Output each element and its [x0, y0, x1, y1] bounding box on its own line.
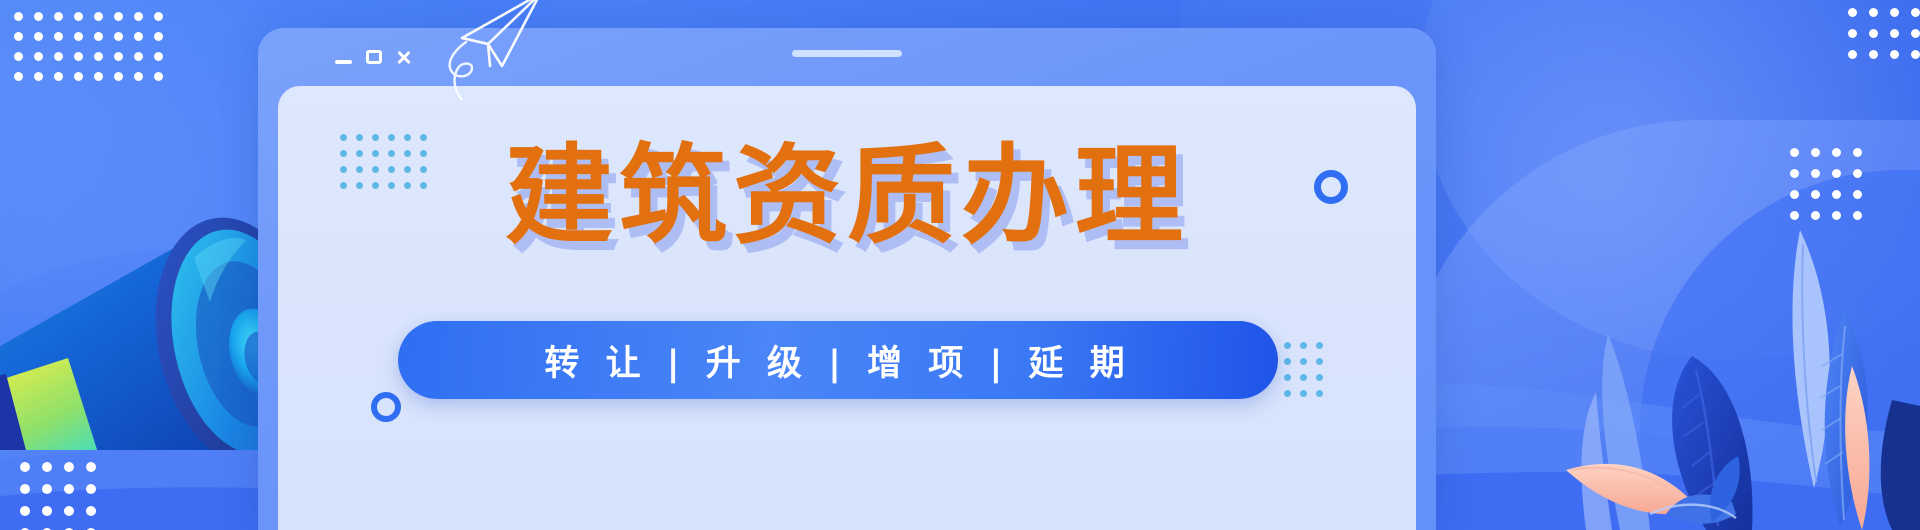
card-handle-bar	[792, 50, 902, 57]
decorative-dot	[42, 484, 52, 494]
decorative-dot	[94, 52, 103, 61]
dot-grid-card-right	[1284, 342, 1332, 406]
decorative-dot	[1869, 50, 1878, 59]
decorative-dot	[34, 32, 43, 41]
decorative-dot	[1869, 29, 1878, 38]
decorative-dot	[134, 72, 143, 81]
decorative-dot	[34, 12, 43, 21]
decorative-dot	[1890, 29, 1899, 38]
decorative-dot	[74, 52, 83, 61]
decorative-dot	[74, 12, 83, 21]
decorative-dot	[1316, 390, 1323, 397]
decorative-dot	[1911, 50, 1920, 59]
decorative-dot	[1284, 358, 1291, 365]
decorative-dot	[154, 12, 163, 21]
decorative-dot	[1284, 342, 1291, 349]
dot-grid-bottom-left	[20, 440, 108, 530]
decorative-dot	[1300, 374, 1307, 381]
title-container: 建筑资质办理	[258, 140, 1436, 253]
decorative-dot	[1300, 342, 1307, 349]
decorative-dot	[14, 32, 23, 41]
window-controls[interactable]	[335, 46, 411, 68]
minimize-icon[interactable]	[335, 60, 352, 64]
decorative-dot	[114, 12, 123, 21]
decorative-dot	[154, 32, 163, 41]
decorative-dot	[134, 52, 143, 61]
decorative-dot	[114, 72, 123, 81]
decorative-dot	[1790, 148, 1799, 157]
decorative-dot	[54, 52, 63, 61]
decorative-dot	[1811, 148, 1820, 157]
decorative-dot	[54, 12, 63, 21]
dot-grid-top-left	[14, 12, 174, 92]
page-title: 建筑资质办理	[505, 140, 1189, 253]
window-card: 建筑资质办理 转 让 | 升 级 | 增 项 | 延 期	[258, 28, 1436, 530]
decorative-dot	[20, 506, 30, 516]
decorative-dot	[86, 484, 96, 494]
decorative-dot	[114, 32, 123, 41]
close-icon[interactable]	[396, 50, 411, 65]
decorative-dot	[1890, 50, 1899, 59]
decorative-dot	[64, 506, 74, 516]
subtitle-label: 转 让 | 升 级 | 增 项 | 延 期	[544, 335, 1131, 386]
decorative-dot	[54, 32, 63, 41]
decorative-dot	[154, 52, 163, 61]
decorative-dot	[1869, 8, 1878, 17]
decorative-dot	[20, 462, 30, 472]
plants-illustration	[1500, 170, 1920, 530]
dot-grid-top-right	[1848, 8, 1920, 71]
decorative-dot	[86, 462, 96, 472]
decorative-dot	[1853, 148, 1862, 157]
decorative-dot	[54, 72, 63, 81]
decorative-dot	[42, 506, 52, 516]
decorative-dot	[1284, 374, 1291, 381]
decorative-dot	[1890, 8, 1899, 17]
decorative-dot	[114, 52, 123, 61]
decorative-dot	[94, 72, 103, 81]
decorative-dot	[14, 12, 23, 21]
decorative-dot	[134, 32, 143, 41]
decorative-dot	[1316, 342, 1323, 349]
decorative-dot	[1911, 8, 1920, 17]
decorative-dot	[1284, 390, 1291, 397]
decorative-dot	[1316, 358, 1323, 365]
decorative-dot	[74, 72, 83, 81]
decorative-dot	[94, 12, 103, 21]
decorative-dot	[154, 72, 163, 81]
paper-plane-icon	[428, 0, 568, 100]
promo-banner: 建筑资质办理 转 让 | 升 级 | 增 项 | 延 期	[0, 0, 1920, 530]
decorative-dot	[86, 506, 96, 516]
subtitle-pill-button[interactable]: 转 让 | 升 级 | 增 项 | 延 期	[398, 321, 1278, 399]
decorative-dot	[1300, 358, 1307, 365]
decorative-dot	[42, 462, 52, 472]
decorative-dot	[64, 462, 74, 472]
decorative-dot	[134, 12, 143, 21]
decorative-dot	[1316, 374, 1323, 381]
decorative-dot	[20, 484, 30, 494]
decorative-dot	[1911, 29, 1920, 38]
decorative-dot	[1848, 8, 1857, 17]
decorative-dot	[34, 72, 43, 81]
decorative-dot	[94, 32, 103, 41]
decorative-dot	[1300, 390, 1307, 397]
decorative-dot	[14, 52, 23, 61]
decorative-dot	[34, 52, 43, 61]
ring-circle-pill-left	[371, 392, 401, 422]
decorative-dot	[1832, 148, 1841, 157]
decorative-dot	[1848, 29, 1857, 38]
decorative-dot	[1848, 50, 1857, 59]
maximize-icon[interactable]	[366, 50, 382, 64]
decorative-dot	[64, 484, 74, 494]
decorative-dot	[14, 72, 23, 81]
decorative-dot	[74, 32, 83, 41]
